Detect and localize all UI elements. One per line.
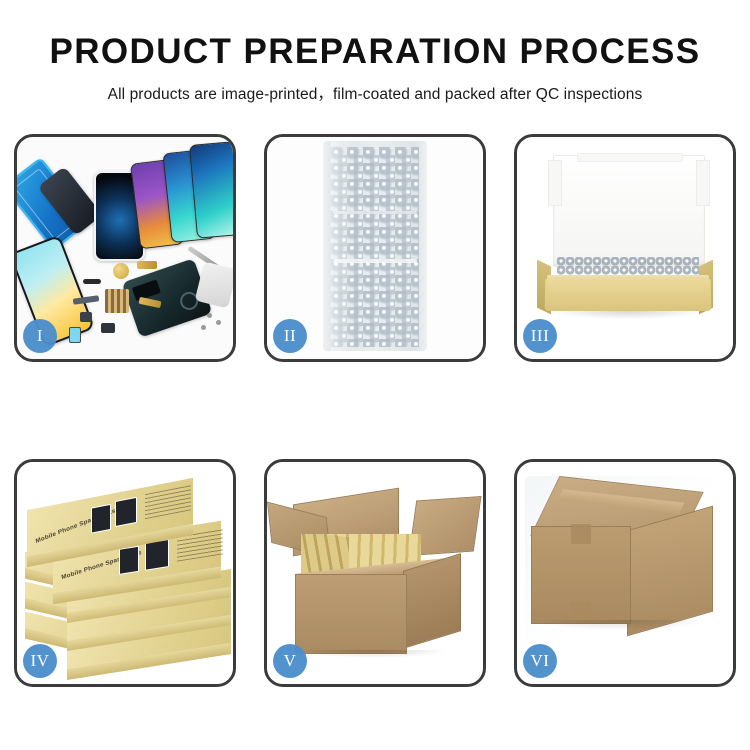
screw-graphic-3	[201, 325, 206, 330]
battery-part-graphic	[69, 327, 81, 343]
page-subtitle: All products are image-printed，film-coat…	[0, 82, 750, 104]
screw-graphic-2	[216, 320, 221, 325]
box-lid-graphic	[553, 155, 705, 267]
box-screen-icon-b1	[115, 497, 137, 527]
step-badge-2: II	[273, 319, 307, 353]
step-badge-3: III	[523, 319, 557, 353]
carton-side-graphic	[403, 553, 461, 649]
carton-front-graphic	[295, 574, 407, 654]
page-title: PRODUCT PREPARATION PROCESS	[0, 34, 750, 71]
carton-corner-tab-graphic-2	[571, 602, 591, 618]
step-panel-bubble-wrap[interactable]: II	[264, 134, 486, 362]
bubble-wrap-pouch-graphic	[323, 141, 427, 351]
small-part-graphic-1	[80, 312, 92, 322]
small-part-graphic-2	[101, 323, 115, 333]
step-cell-6: VI	[500, 459, 750, 689]
sealed-carton-shadow-graphic	[535, 620, 705, 630]
step-badge-6: VI	[523, 644, 557, 678]
wrap-seal-graphic-2	[333, 259, 417, 263]
chip-grid-graphic	[105, 289, 129, 313]
header: PRODUCT PREPARATION PROCESS All products…	[0, 0, 750, 104]
screw-graphic-1	[207, 313, 212, 318]
box-shadow-graphic	[551, 311, 705, 319]
flex-cable-graphic-1	[137, 261, 157, 269]
phone-gradient-graphic	[189, 141, 233, 238]
box-screen-icon-a1	[91, 504, 111, 534]
step-cell-1: I	[0, 134, 250, 364]
step-panel-inner-box[interactable]: III	[514, 134, 736, 362]
step-cell-2: II	[250, 134, 500, 364]
wrap-seal-graphic-1	[333, 211, 417, 214]
step-panel-phone-parts[interactable]: I	[14, 134, 236, 362]
carton-corner-tab-graphic-1	[571, 524, 591, 544]
white-part-graphic	[195, 261, 233, 308]
vibration-motor-graphic	[113, 263, 129, 279]
box-screen-icon-b2	[145, 539, 169, 571]
step-panel-carton-loading[interactable]: V	[264, 459, 486, 687]
step-badge-1: I	[23, 319, 57, 353]
box-stack-graphic: Mobile Phone Spare Parts Mobile Phone Sp…	[21, 478, 233, 674]
plastic-sheen-graphic	[331, 141, 355, 351]
product-preparation-infographic: PRODUCT PREPARATION PROCESS All products…	[0, 0, 750, 750]
box-front-graphic	[545, 279, 712, 311]
carton-shadow-graphic	[299, 650, 449, 658]
box-lid-tab-graphic	[577, 153, 683, 162]
step-cell-3: III	[500, 134, 750, 364]
box-screen-icon-a2	[119, 546, 139, 575]
step-badge-5: V	[273, 644, 307, 678]
speaker-part-graphic	[83, 279, 101, 284]
steps-grid: I II	[0, 134, 750, 689]
step-panel-sealed-carton[interactable]: VI	[514, 459, 736, 687]
step-cell-5: V	[250, 459, 500, 689]
step-cell-4: Mobile Phone Spare Parts Mobile Phone Sp…	[0, 459, 250, 689]
step-badge-4: IV	[23, 644, 57, 678]
step-panel-stacked-boxes[interactable]: Mobile Phone Spare Parts Mobile Phone Sp…	[14, 459, 236, 687]
